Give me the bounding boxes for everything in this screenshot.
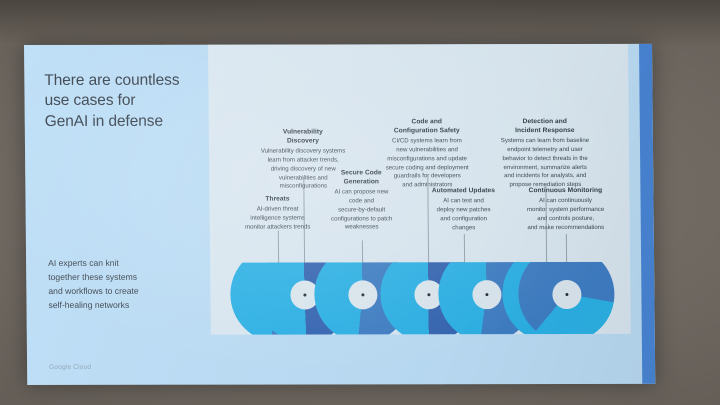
callout-title-line-1: Secure Code	[311, 169, 411, 178]
callout-title: Code and Configuration Safety	[365, 118, 489, 136]
callout-body: AI can propose new code and secure-by-de…	[311, 189, 411, 233]
callout-title-line-1: Code and	[365, 118, 489, 127]
slide-canvas: There are countless use cases for GenAI …	[24, 44, 655, 385]
donut-center-dot	[565, 293, 568, 296]
donut-center-dot	[303, 293, 306, 296]
callout-title-line-1: Vulnerability	[247, 128, 359, 137]
slide-subtitle-line-2: together these systems	[48, 271, 198, 285]
slide-subtitle-line-1: AI experts can knit	[48, 257, 198, 271]
callout-title-line-2: Generation	[311, 178, 411, 187]
callout-body: Systems can learn from baseline endpoint…	[477, 137, 614, 190]
page-title-line-3: GenAI in defense	[45, 112, 210, 133]
slide-subtitle: AI experts can knit together these syste…	[48, 257, 199, 313]
page-title-line-1: There are countless	[44, 71, 209, 92]
page-title-line-2: use cases for	[44, 91, 209, 112]
slide-subtitle-line-4: self-healing networks	[48, 298, 198, 312]
callout-title: Secure Code Generation	[311, 169, 411, 187]
callout-title: Vulnerability Discovery	[247, 128, 359, 146]
callout-secure-code-generation: Secure Code Generation AI can propose ne…	[311, 169, 412, 232]
callout-detection-and-incident-response: Detection and Incident Response Systems …	[477, 118, 614, 190]
projected-slide: There are countless use cases for GenAI …	[24, 44, 655, 385]
donut-node-continuous-monitoring	[518, 262, 615, 335]
callout-title-line-2: Discovery	[247, 137, 359, 146]
slide-subtitle-line-3: and workflows to create	[48, 285, 198, 299]
callout-title: Continuous Monitoring	[503, 187, 627, 196]
callout-title-line-2: Incident Response	[477, 127, 613, 136]
donut-center-dot	[485, 293, 488, 296]
wall-shadow-top	[0, 0, 720, 46]
donut-chain	[210, 262, 631, 335]
callout-title: Detection and Incident Response	[477, 118, 613, 136]
donut-center-dot	[427, 293, 430, 296]
callout-title-line-1: Continuous Monitoring	[503, 187, 627, 196]
callout-body: AI can continuously monitor system perfo…	[503, 197, 627, 232]
callout-continuous-monitoring: Continuous Monitoring AI can continuousl…	[503, 187, 627, 233]
google-cloud-logo: Google Cloud	[49, 364, 91, 371]
page-title: There are countless use cases for GenAI …	[44, 71, 210, 133]
callout-title-line-1: Detection and	[477, 118, 613, 127]
callout-title-line-2: Configuration Safety	[365, 127, 489, 136]
donut-center-dot	[361, 293, 364, 296]
